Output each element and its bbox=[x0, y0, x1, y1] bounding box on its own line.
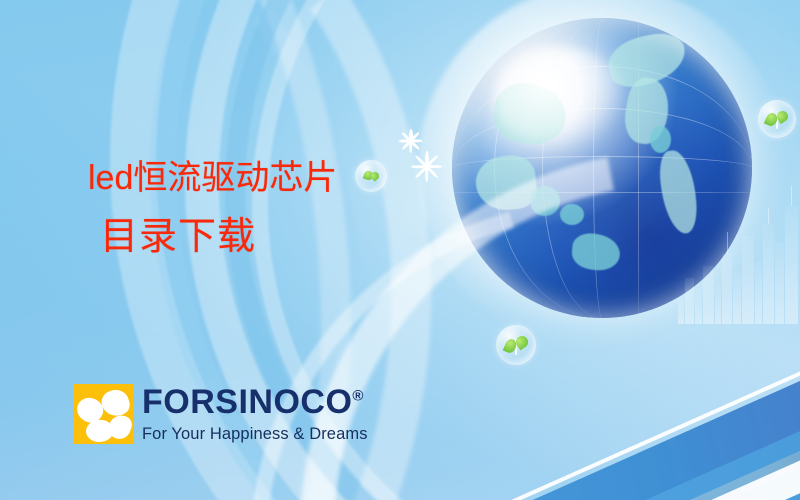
globe-specular-highlight bbox=[494, 48, 626, 150]
headline-line-1: led恒流驱动芯片 bbox=[0, 160, 420, 197]
bubble-with-plant-icon bbox=[758, 100, 796, 138]
brand-logo: FORSINOCO® For Your Happiness & Dreams bbox=[73, 384, 368, 444]
banner-headline: led恒流驱动芯片 目录下载 bbox=[0, 160, 420, 258]
headline-line-2: 目录下载 bbox=[0, 217, 420, 258]
registered-mark: ® bbox=[352, 388, 364, 405]
brand-name: FORSINOCO bbox=[142, 383, 352, 421]
four-petal-pinwheel-icon bbox=[73, 384, 133, 444]
brand-text-lockup: FORSINOCO® For Your Happiness & Dreams bbox=[142, 384, 368, 443]
brand-tagline: For Your Happiness & Dreams bbox=[142, 426, 368, 443]
petal-top bbox=[99, 387, 132, 419]
brand-wordmark: FORSINOCO® bbox=[142, 385, 368, 419]
banner-canvas: led恒流驱动芯片 目录下载 FORSINOCO® For Your Happi… bbox=[0, 0, 800, 500]
